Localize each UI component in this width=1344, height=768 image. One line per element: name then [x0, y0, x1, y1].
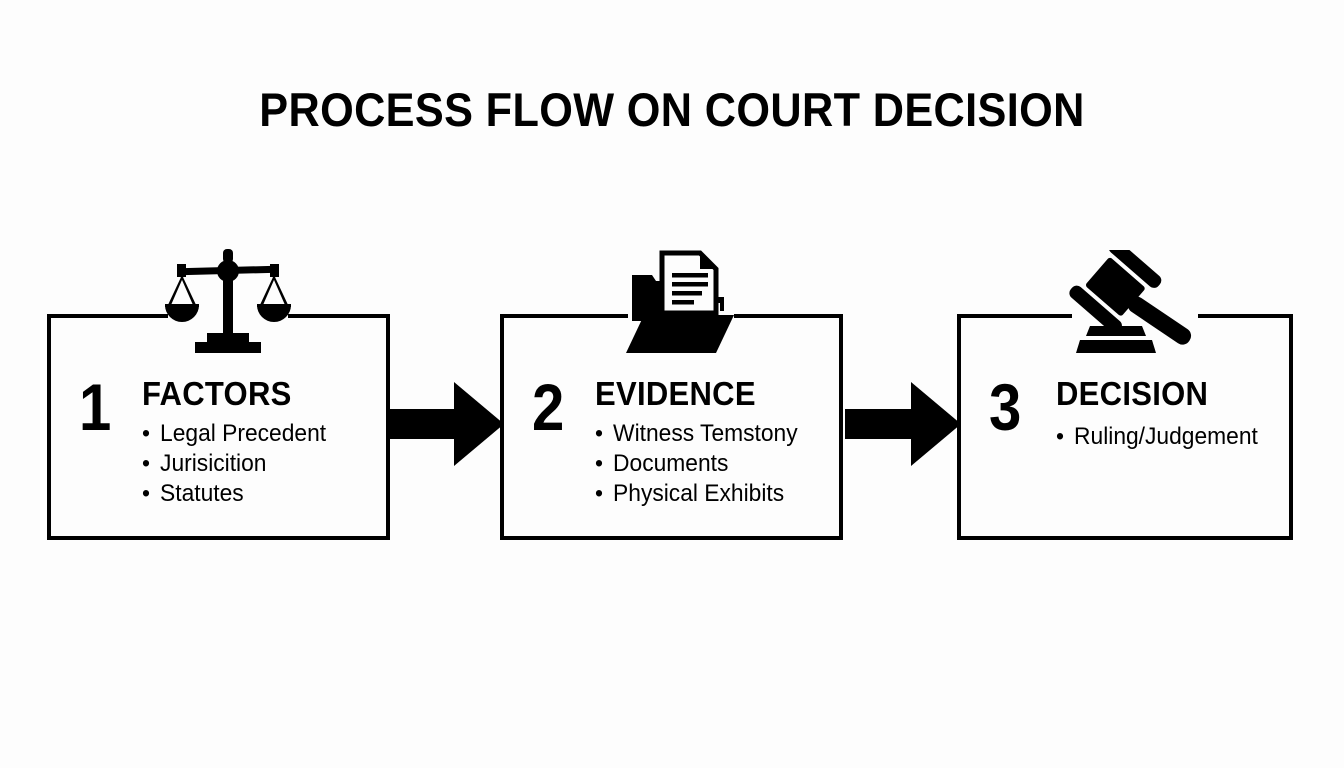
diagram-canvas: PROCESS FLOW ON COURT DECISION 1 FACTORS…: [0, 0, 1344, 768]
step-number-2: 2: [532, 374, 564, 440]
arrow-step2-to-step3: [845, 382, 961, 466]
scales-of-justice-icon: [165, 247, 291, 355]
step-bullets-3: Ruling/Judgement: [1056, 422, 1268, 452]
step-heading-1: FACTORS: [142, 376, 324, 412]
list-item: Legal Precedent: [142, 419, 326, 449]
list-item: Jurisicition: [142, 449, 326, 479]
step-number-1: 1: [79, 374, 111, 440]
list-item: Ruling/Judgement: [1056, 422, 1258, 452]
list-item: Physical Exhibits: [595, 479, 798, 509]
step-bullets-2: Witness Temstony Documents Physical Exhi…: [595, 419, 808, 509]
arrow-step1-to-step2: [388, 382, 504, 466]
step-bullets-1: Legal Precedent Jurisicition Statutes: [142, 419, 336, 509]
step-heading-2: EVIDENCE: [595, 376, 795, 412]
step-number-3: 3: [989, 374, 1021, 440]
list-item: Witness Temstony: [595, 419, 798, 449]
page-title: PROCESS FLOW ON COURT DECISION: [54, 82, 1290, 138]
step-heading-3: DECISION: [1056, 376, 1256, 412]
list-item: Documents: [595, 449, 798, 479]
step-text-3: DECISION Ruling/Judgement: [1056, 376, 1268, 452]
document-folder-icon: [622, 247, 740, 355]
step-text-2: EVIDENCE Witness Temstony Documents Phys…: [595, 376, 808, 509]
step-text-1: FACTORS Legal Precedent Jurisicition Sta…: [142, 376, 336, 509]
gavel-icon: [1068, 250, 1204, 356]
list-item: Statutes: [142, 479, 326, 509]
